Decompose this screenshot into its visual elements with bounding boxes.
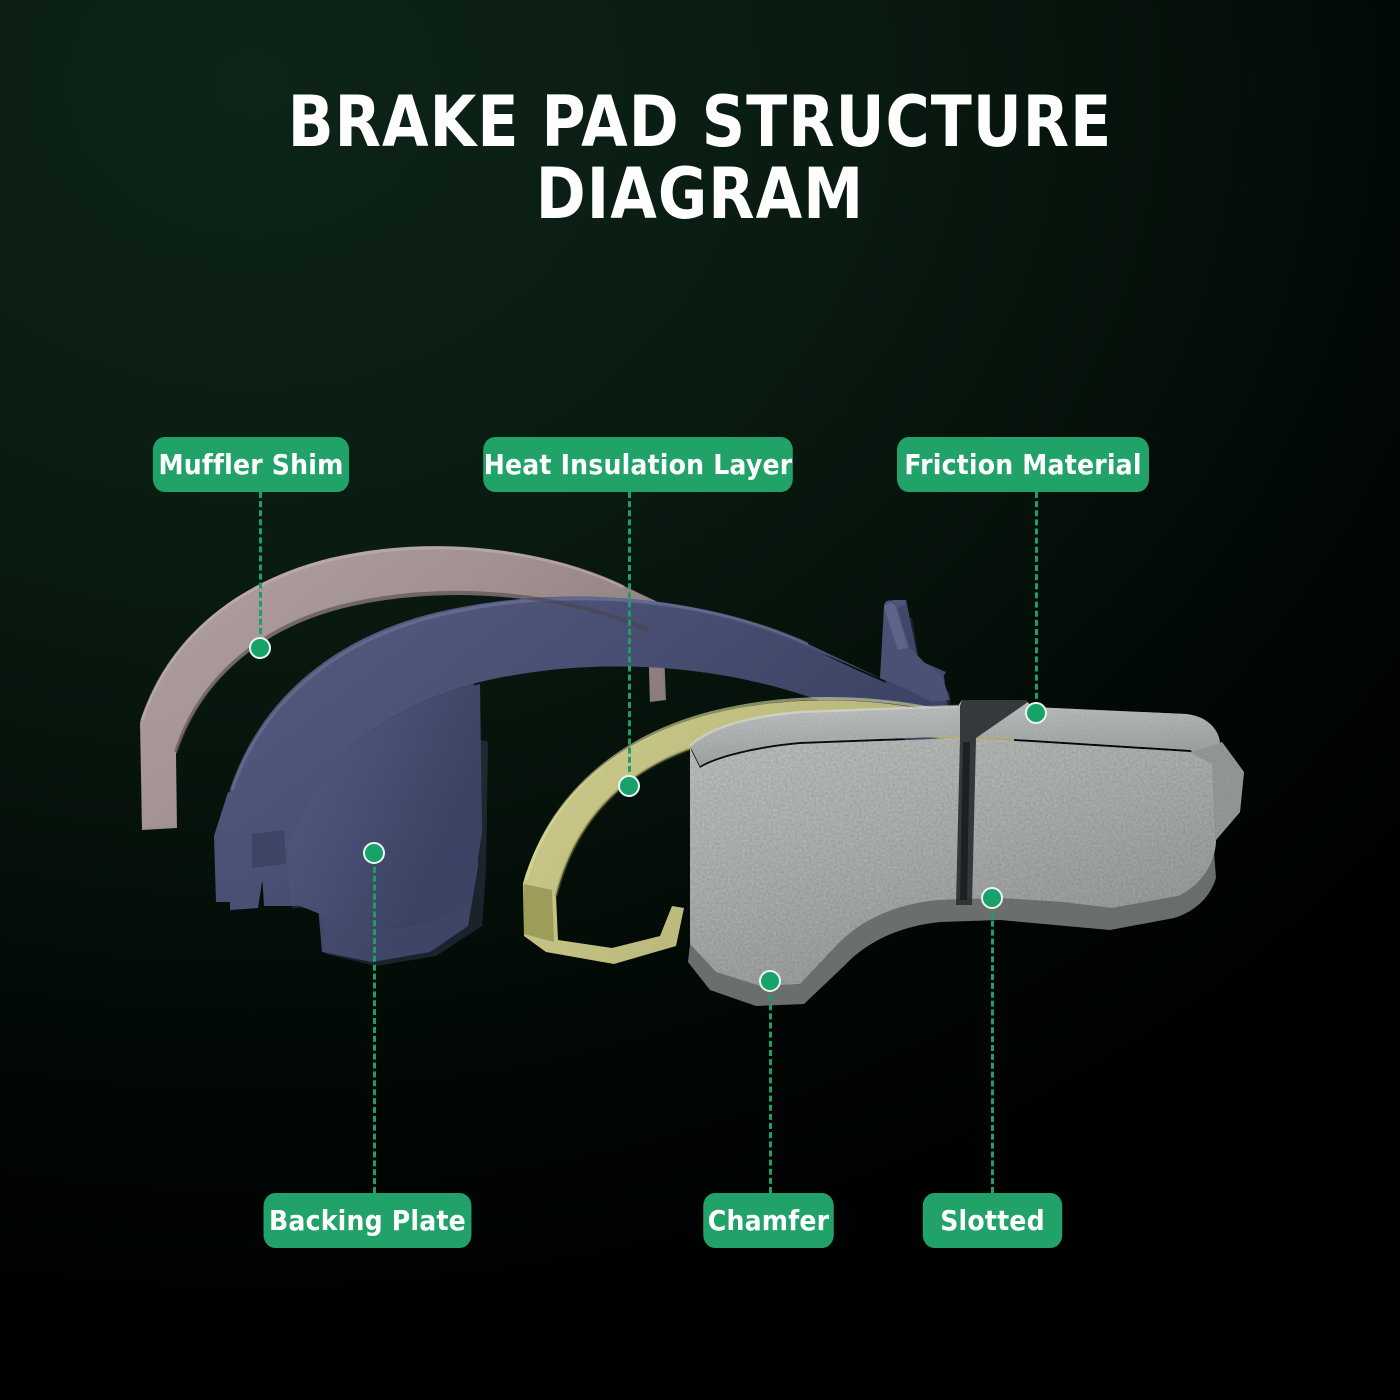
callout-dot-chamfer[interactable] — [759, 970, 781, 992]
label-text-heat-insulation: Heat Insulation Layer — [484, 448, 793, 481]
label-text-muffler-shim: Muffler Shim — [158, 448, 343, 481]
leader-line-backing-plate — [373, 858, 376, 1193]
brake-pad-illustration — [0, 0, 1400, 1400]
callout-dot-friction-material[interactable] — [1025, 702, 1047, 724]
callout-dot-backing-plate[interactable] — [363, 842, 385, 864]
friction-material-shape — [688, 700, 1244, 1006]
label-chip-slotted[interactable]: Slotted — [923, 1193, 1063, 1248]
leader-line-chamfer — [769, 986, 772, 1193]
label-chip-backing-plate[interactable]: Backing Plate — [264, 1193, 472, 1248]
leader-line-heat-insulation — [628, 492, 631, 781]
callout-dot-slotted[interactable] — [981, 887, 1003, 909]
label-chip-muffler-shim[interactable]: Muffler Shim — [153, 437, 349, 492]
diagram-canvas: BRAKE PAD STRUCTURE DIAGRAM — [0, 0, 1400, 1400]
callout-dot-heat-insulation[interactable] — [618, 775, 640, 797]
leader-line-friction-material — [1035, 492, 1038, 708]
leader-line-muffler-shim — [259, 492, 262, 643]
label-text-chamfer: Chamfer — [708, 1204, 829, 1237]
label-chip-chamfer[interactable]: Chamfer — [703, 1193, 834, 1248]
label-text-backing-plate: Backing Plate — [269, 1204, 466, 1237]
label-chip-friction-material[interactable]: Friction Material — [897, 437, 1149, 492]
label-text-slotted: Slotted — [940, 1204, 1045, 1237]
leader-line-slotted — [991, 903, 994, 1193]
label-text-friction-material: Friction Material — [904, 448, 1141, 481]
callout-dot-muffler-shim[interactable] — [249, 637, 271, 659]
label-chip-heat-insulation[interactable]: Heat Insulation Layer — [483, 437, 793, 492]
